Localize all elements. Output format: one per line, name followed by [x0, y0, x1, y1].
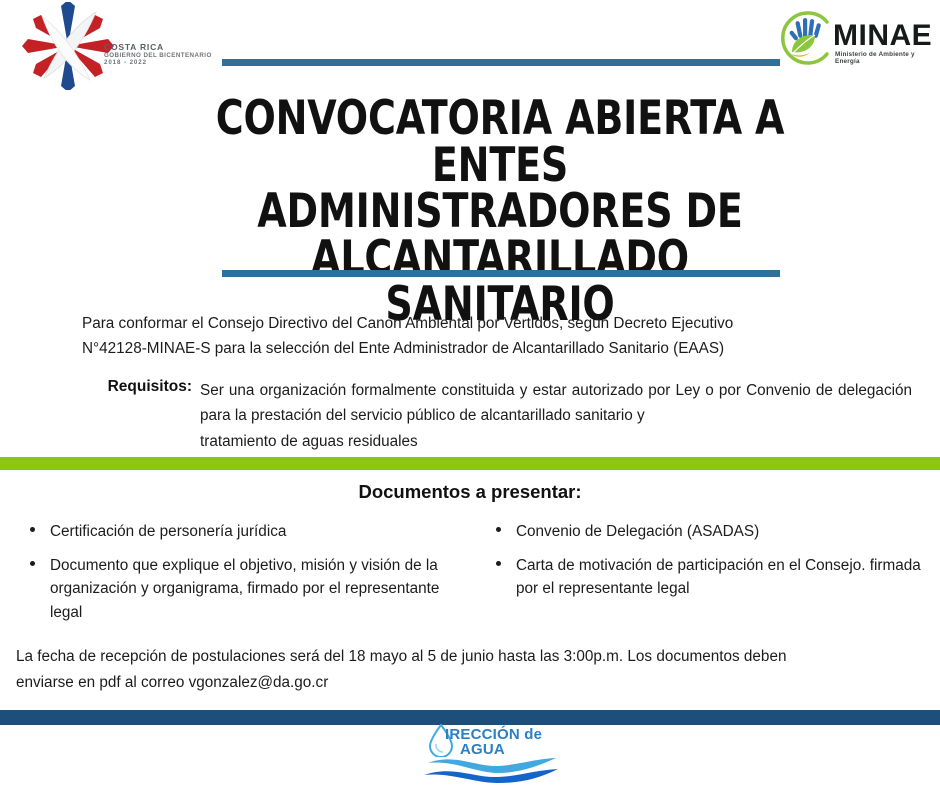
cr-line-1: COSTA RICA — [104, 42, 212, 52]
requisitos-section: Requisitos: Ser una organización formalm… — [80, 378, 912, 454]
bullet-icon — [30, 527, 35, 532]
bullet-icon — [30, 561, 35, 566]
costa-rica-logo: COSTA RICA GOBIERNO DEL BICENTENARIO 201… — [0, 0, 212, 92]
documentos-right-column: Convenio de Delegación (ASADAS) Carta de… — [470, 520, 940, 635]
intro-paragraph: Para conformar el Consejo Directivo del … — [82, 311, 912, 362]
intro-line-1: Para conformar el Consejo Directivo del … — [82, 315, 733, 332]
cr-line-3: 2018 - 2022 — [104, 59, 212, 66]
deadline-line-2: enviarse en pdf al correo vgonzalez@da.g… — [16, 670, 928, 696]
water-waves-icon — [414, 754, 569, 784]
minae-logo: MINAE Ministerio de Ambiente y Energía — [777, 6, 937, 72]
page-header: COSTA RICA GOBIERNO DEL BICENTENARIO 201… — [0, 0, 940, 92]
documentos-left-column: Certificación de personería jurídica Doc… — [0, 520, 470, 635]
requisitos-label: Requisitos: — [80, 378, 192, 396]
list-item-label: Certificación de personería jurídica — [50, 523, 286, 540]
minae-subtitle: Ministerio de Ambiente y Energía — [835, 51, 937, 65]
documentos-left-list: Certificación de personería jurídica Doc… — [22, 520, 470, 625]
bullet-icon — [496, 527, 501, 532]
deadline-line-1: La fecha de recepción de postulaciones s… — [16, 648, 786, 665]
bullet-icon — [496, 561, 501, 566]
green-divider-bar — [0, 457, 940, 470]
documentos-columns: Certificación de personería jurídica Doc… — [0, 520, 940, 635]
list-item: Convenio de Delegación (ASADAS) — [488, 520, 940, 544]
list-item: Carta de motivación de participación en … — [488, 554, 940, 601]
list-item-label: Documento que explique el objetivo, misi… — [50, 557, 439, 621]
cr-line-2: GOBIERNO DEL BICENTENARIO — [104, 52, 212, 59]
list-item-label: Convenio de Delegación (ASADAS) — [516, 523, 759, 540]
requisitos-line-3: tratamiento de aguas residuales — [200, 429, 912, 454]
direccion-de-agua-logo: IRECCIÓN de AGUA — [414, 722, 569, 784]
deadline-paragraph: La fecha de recepción de postulaciones s… — [16, 644, 928, 697]
minae-wordmark: MINAE — [833, 19, 932, 53]
title-line-2: ADMINISTRADORES DE — [203, 189, 797, 236]
requisitos-text: Ser una organización formalmente constit… — [200, 378, 912, 454]
list-item: Certificación de personería jurídica — [22, 520, 470, 544]
title-rule-top — [222, 59, 780, 66]
minae-hand-leaf-icon — [777, 10, 835, 66]
requisitos-line-1: Ser una organización formalmente constit… — [200, 382, 811, 399]
documentos-heading: Documentos a presentar: — [0, 481, 940, 503]
title-rule-bottom — [222, 270, 780, 277]
intro-line-2: N°42128-MINAE-S para la selección del En… — [82, 336, 912, 361]
costa-rica-logo-text: COSTA RICA GOBIERNO DEL BICENTENARIO 201… — [104, 42, 212, 67]
list-item-label: Carta de motivación de participación en … — [516, 557, 921, 598]
list-item: Documento que explique el objetivo, misi… — [22, 554, 470, 625]
title-line-1: CONVOCATORIA ABIERTA A ENTES — [203, 96, 797, 189]
documentos-right-list: Convenio de Delegación (ASADAS) Carta de… — [488, 520, 940, 601]
page-title: CONVOCATORIA ABIERTA A ENTES ADMINISTRAD… — [203, 96, 797, 329]
